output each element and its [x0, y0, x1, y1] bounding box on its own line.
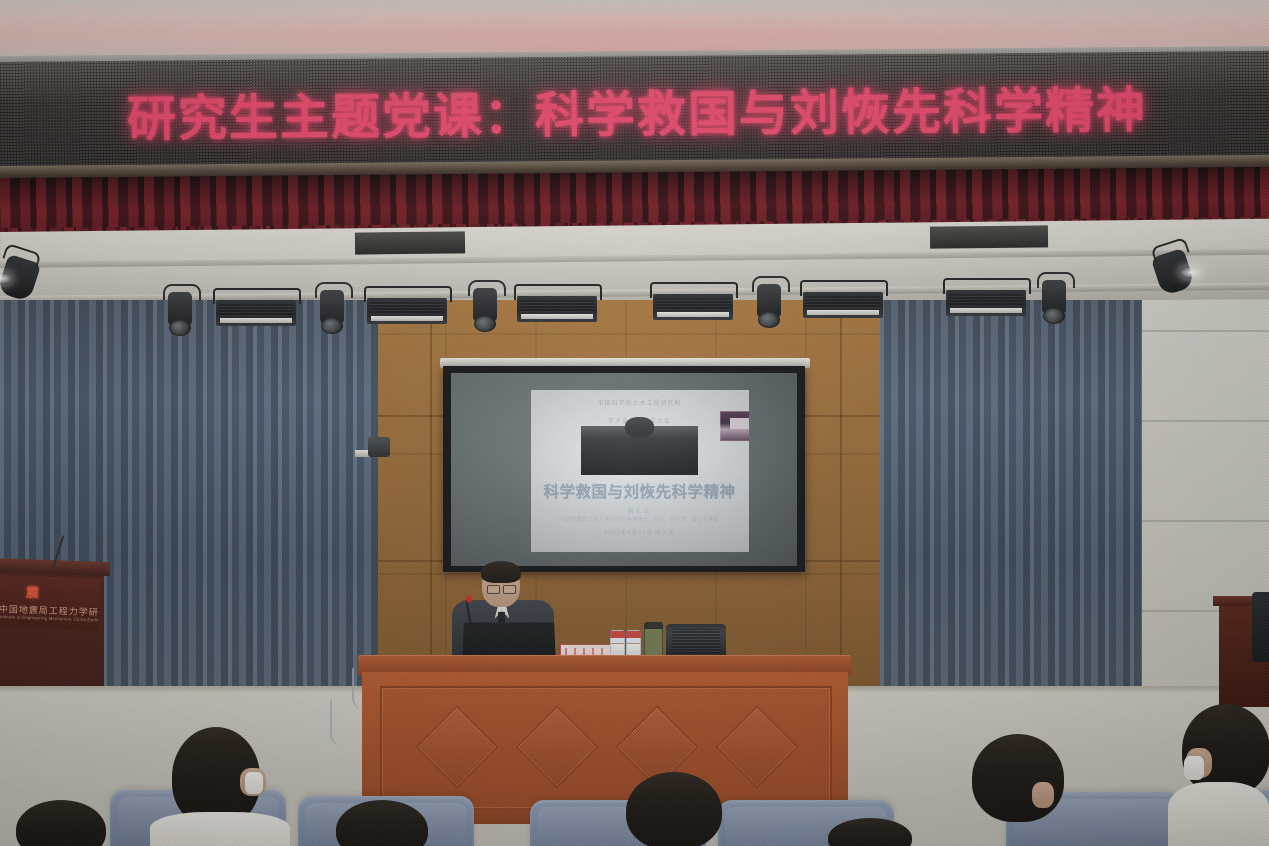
speaker-glasses-icon: [487, 585, 516, 592]
face-mask: [1184, 756, 1204, 780]
slide-date: 2021年4月27日 哈尔滨: [531, 528, 749, 536]
audience-person-head: [626, 772, 722, 846]
audience-person-shoulders: [1168, 782, 1269, 846]
audience-person-shoulders: [150, 812, 290, 846]
ceiling-speaker: [803, 292, 883, 318]
presentation-slide: 中国科学院土木工程研究所 学术委员会成立大会 科学救国与刘恢先科学精神 谢礼立 …: [531, 390, 749, 552]
stage-curtain-right: [880, 300, 1142, 695]
lecture-hall-photo: 研究生主题党课：科学救国与刘恢先科学精神: [0, 0, 1269, 846]
projection-screen: 中国科学院土木工程研究所 学术委员会成立大会 科学救国与刘恢先科学精神 谢礼立 …: [443, 366, 805, 572]
audience-person-ear: [1032, 782, 1054, 808]
wall-camera-icon: [368, 437, 390, 457]
wood-wall-seam: [840, 300, 842, 695]
ceiling-speaker: [946, 290, 1026, 316]
led-banner-panel: 研究生主题党课：科学救国与刘恢先科学精神: [0, 51, 1269, 170]
face-mask: [245, 772, 263, 794]
ceiling-vent: [355, 231, 465, 254]
projection-screen-surface: 中国科学院土木工程研究所 学术委员会成立大会 科学救国与刘恢先科学精神 谢礼立 …: [451, 373, 797, 566]
slide-photo-image: [581, 426, 699, 475]
ceiling-speaker: [653, 294, 733, 320]
desk-diamond-motif: [416, 706, 498, 788]
institute-emblem-icon: 震: [21, 580, 44, 603]
slide-author: 谢礼立: [531, 506, 749, 515]
podium-signage-plate: 震 中国地震局工程力学研究所 Institute of Engineering …: [0, 575, 100, 630]
audience-person-head: [972, 734, 1064, 822]
microphone-indicator-icon: [466, 596, 472, 602]
desk-diamond-motif: [516, 706, 598, 788]
slide-header-line-1: 中国科学院土木工程研究所: [531, 399, 749, 408]
floor-cable: [330, 700, 346, 746]
slide-inset-photo: [720, 411, 748, 441]
side-chair: [1252, 592, 1269, 662]
floor-cable: [352, 668, 368, 710]
speaker-hair: [481, 561, 521, 583]
slide-affiliation: 中国地震局工程力学研究所 名誉所长、院士、研究员、博士生导师: [531, 516, 749, 523]
wood-wall-seam: [430, 300, 432, 695]
desk-panel-inner-frame: [380, 686, 832, 810]
ceiling-speaker: [216, 300, 296, 326]
desk-diamond-motif: [716, 706, 798, 788]
led-sheen: [0, 51, 1269, 170]
ceiling-speaker: [367, 298, 447, 324]
stage-curtain-left: [78, 300, 378, 695]
slide-title: 科学救国与刘恢先科学精神: [531, 480, 749, 502]
ceiling-speaker: [517, 296, 597, 322]
ceiling-vent: [930, 225, 1048, 248]
